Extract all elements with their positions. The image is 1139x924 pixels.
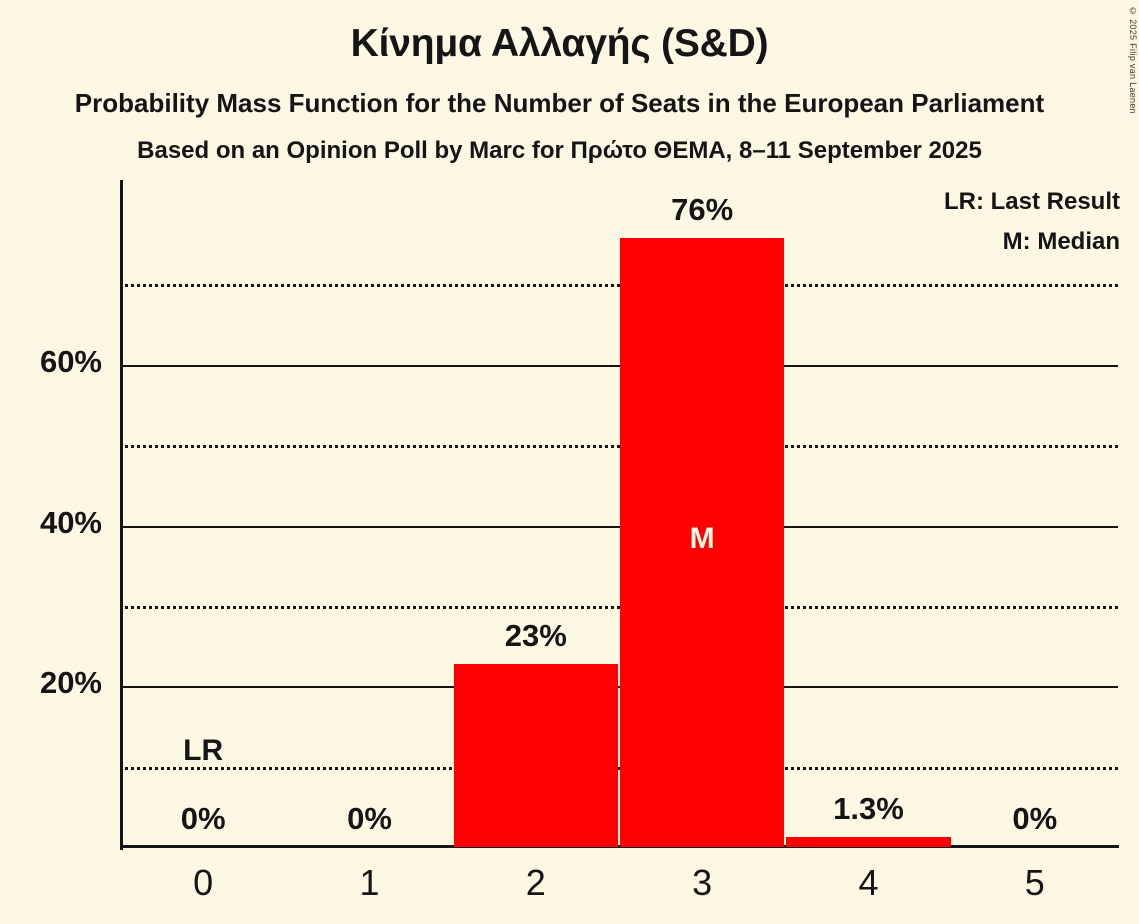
last-result-marker: LR <box>120 734 286 768</box>
x-axis-tick-label: 1 <box>286 862 452 904</box>
chart-title: Κίνημα Αλλαγής (S&D) <box>0 22 1119 66</box>
bar-value-label: 0% <box>121 801 285 837</box>
x-axis-tick-label: 4 <box>785 862 951 904</box>
y-axis-tick-label: 60% <box>2 344 102 380</box>
bar[interactable] <box>454 664 618 847</box>
x-axis-tick-label: 3 <box>619 862 785 904</box>
chart-legend: LR: Last Result M: Median <box>944 182 1120 262</box>
x-axis-tick-label: 0 <box>120 862 286 904</box>
gridline-major <box>120 686 1118 688</box>
bar-value-label: 0% <box>953 801 1117 837</box>
bar-value-label: 23% <box>454 618 618 654</box>
y-axis-tick-label: 20% <box>2 665 102 701</box>
chart-subtitle: Probability Mass Function for the Number… <box>0 88 1119 119</box>
median-marker: M <box>619 522 785 556</box>
legend-item-last-result: LR: Last Result <box>944 182 1120 222</box>
bar-value-label: 1.3% <box>786 791 950 827</box>
y-axis-tick-label: 40% <box>2 505 102 541</box>
chart-source-line: Based on an Opinion Poll by Marc for Πρώ… <box>0 137 1119 165</box>
bar[interactable] <box>786 837 950 847</box>
copyright-notice: © 2025 Filip van Laenen <box>1124 6 1138 114</box>
bar-value-label: 0% <box>287 801 451 837</box>
bar-value-label: 76% <box>620 192 784 228</box>
x-axis-tick-label: 2 <box>453 862 619 904</box>
gridline-major <box>120 365 1118 367</box>
chart-canvas: Κίνημα Αλλαγής (S&D) Probability Mass Fu… <box>0 0 1139 924</box>
gridline-minor <box>120 445 1118 448</box>
legend-item-median: M: Median <box>944 222 1120 262</box>
gridline-minor <box>120 284 1118 287</box>
gridline-minor <box>120 606 1118 609</box>
x-axis-tick-label: 5 <box>952 862 1118 904</box>
